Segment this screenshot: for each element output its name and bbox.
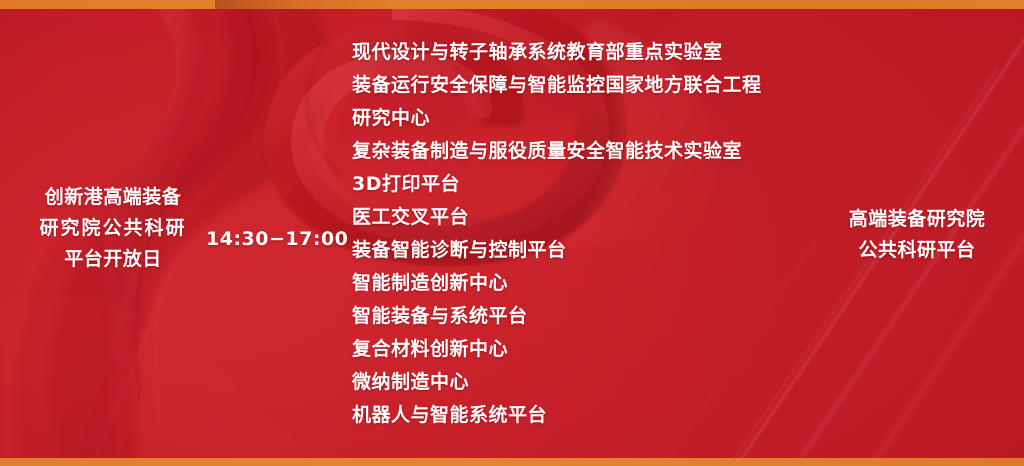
platform-list-item: 复杂装备制造与服役质量安全智能技术实验室 <box>352 135 762 168</box>
institute-name-line: 公共科研平台 <box>858 239 975 261</box>
platform-list-item: 智能装备与系统平台 <box>352 300 762 333</box>
platform-list-item: 微纳制造中心 <box>352 366 762 399</box>
platform-list-item: 3D打印平台 <box>352 168 762 201</box>
institute-name-line: 高端装备研究院 <box>849 208 986 230</box>
event-banner: 创新港高端装备 研究院公共科研 平台开放日 14:30−17:00 现代设计与转… <box>0 0 1024 466</box>
event-title-line: 平台开放日 <box>64 248 162 270</box>
institute-name-block: 高端装备研究院 公共科研平台 <box>824 204 1010 266</box>
platform-list-item: 装备运行安全保障与智能监控国家地方联合工程 <box>352 69 762 102</box>
platform-list-item: 智能制造创新中心 <box>352 267 762 300</box>
event-title-block: 创新港高端装备 研究院公共科研 平台开放日 <box>18 182 208 275</box>
event-time: 14:30−17:00 <box>206 226 348 252</box>
platform-list-item: 医工交叉平台 <box>352 201 762 234</box>
platform-list: 现代设计与转子轴承系统教育部重点实验室 装备运行安全保障与智能监控国家地方联合工… <box>352 36 762 432</box>
platform-list-item: 现代设计与转子轴承系统教育部重点实验室 <box>352 36 762 69</box>
platform-list-item: 装备智能诊断与控制平台 <box>352 234 762 267</box>
banner-content: 创新港高端装备 研究院公共科研 平台开放日 14:30−17:00 现代设计与转… <box>0 0 1024 466</box>
platform-list-item: 研究中心 <box>352 102 762 135</box>
platform-list-item: 机器人与智能系统平台 <box>352 399 762 432</box>
platform-list-item: 复合材料创新中心 <box>352 333 762 366</box>
event-title-line: 研究院公共科研 <box>39 217 186 239</box>
event-title-line: 创新港高端装备 <box>45 186 182 208</box>
